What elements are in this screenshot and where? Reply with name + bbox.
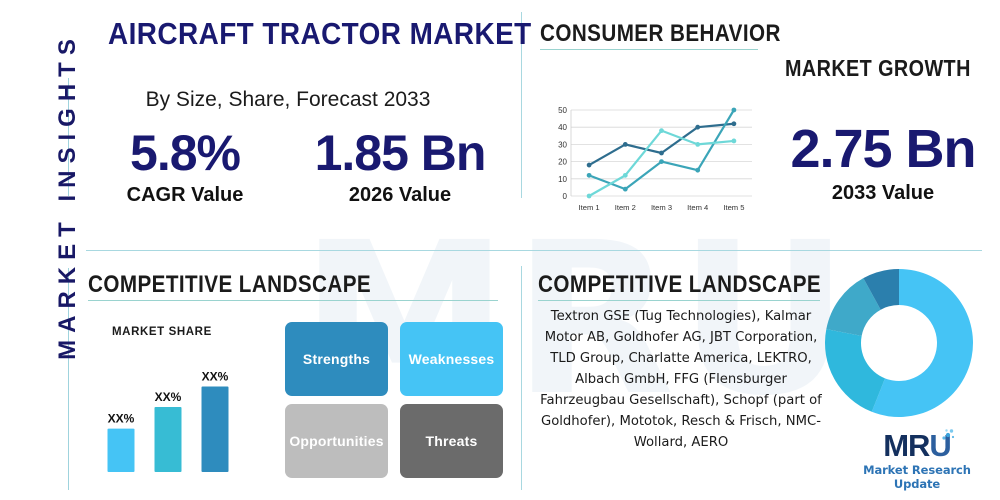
section-underline-competitive-landscape-left xyxy=(88,300,498,301)
svg-text:Item 3: Item 3 xyxy=(651,203,672,212)
market-insights-rail-label: MARKET INSIGHTS xyxy=(54,0,82,396)
stat-2033-value: 2.75 Bn xyxy=(772,118,994,180)
svg-text:XX%: XX% xyxy=(202,370,229,384)
swot-box-opportunities[interactable]: Opportunities xyxy=(285,404,388,478)
svg-text:XX%: XX% xyxy=(155,390,182,404)
donut-chart-svg xyxy=(822,266,976,420)
svg-text:Item 2: Item 2 xyxy=(615,203,636,212)
svg-text:Item 5: Item 5 xyxy=(723,203,744,212)
swot-box-weaknesses[interactable]: Weaknesses xyxy=(400,322,503,396)
infographic-canvas: MRU MARKET INSIGHTS AIRCRAFT TRACTOR MAR… xyxy=(0,0,1000,500)
competitor-list: Textron GSE (Tug Technologies), Kalmar M… xyxy=(535,306,827,453)
vertical-divider-bottom xyxy=(521,266,522,490)
section-heading-consumer-behavior: CONSUMER BEHAVIOR xyxy=(540,20,781,48)
section-heading-competitive-landscape-right: COMPETITIVE LANDSCAPE xyxy=(538,271,821,299)
svg-text:20: 20 xyxy=(558,158,567,167)
share-donut-chart xyxy=(822,266,976,420)
stat-cagr-value: 5.8% xyxy=(90,124,280,182)
svg-text:Item 4: Item 4 xyxy=(687,203,708,212)
stat-2026: 1.85 Bn 2026 Value xyxy=(290,124,510,207)
page-subtitle: By Size, Share, Forecast 2033 xyxy=(88,88,488,112)
swot-label-opportunities: Opportunities xyxy=(289,433,383,449)
swot-label-weaknesses: Weaknesses xyxy=(409,351,495,367)
mru-logo: MRU Market Research Update xyxy=(852,430,982,491)
section-heading-market-growth: MARKET GROWTH xyxy=(785,55,971,82)
stat-cagr-caption: CAGR Value xyxy=(90,184,280,207)
mru-logo-letter-r: R xyxy=(908,428,929,463)
svg-text:XX%: XX% xyxy=(108,412,135,426)
page-title: AIRCRAFT TRACTOR MARKET xyxy=(108,16,468,52)
stat-2033-caption: 2033 Value xyxy=(772,182,994,205)
svg-text:Item 1: Item 1 xyxy=(579,203,600,212)
consumer-behavior-line-chart: 01020304050Item 1Item 2Item 3Item 4Item … xyxy=(545,104,760,216)
section-heading-competitive-landscape-left: COMPETITIVE LANDSCAPE xyxy=(88,271,371,299)
bar-chart-svg: XX%XX%XX% xyxy=(100,336,260,476)
section-underline-competitive-landscape-right xyxy=(538,300,820,301)
bubbles-icon xyxy=(940,426,956,442)
mru-logo-subtitle: Market Research Update xyxy=(852,463,982,491)
swot-box-strengths[interactable]: Strengths xyxy=(285,322,388,396)
svg-text:50: 50 xyxy=(558,106,567,115)
svg-text:30: 30 xyxy=(558,140,567,149)
mru-logo-letter-m: M xyxy=(883,428,908,463)
horizontal-divider xyxy=(86,250,982,251)
stat-2026-caption: 2026 Value xyxy=(290,184,510,207)
swot-label-strengths: Strengths xyxy=(303,351,370,367)
svg-text:40: 40 xyxy=(558,123,567,132)
swot-grid: Strengths Weaknesses Opportunities Threa… xyxy=(285,322,507,480)
stat-2033: 2.75 Bn 2033 Value xyxy=(772,118,994,205)
swot-label-threats: Threats xyxy=(426,433,478,449)
svg-text:10: 10 xyxy=(558,175,567,184)
stat-cagr: 5.8% CAGR Value xyxy=(90,124,280,207)
svg-text:0: 0 xyxy=(563,192,568,201)
market-share-bar-chart: XX%XX%XX% xyxy=(100,336,260,476)
line-chart-svg: 01020304050Item 1Item 2Item 3Item 4Item … xyxy=(545,104,760,216)
stat-2026-value: 1.85 Bn xyxy=(290,124,510,182)
swot-box-threats[interactable]: Threats xyxy=(400,404,503,478)
section-underline-consumer-behavior xyxy=(540,49,758,50)
mru-logo-mark: MRU xyxy=(883,430,951,462)
